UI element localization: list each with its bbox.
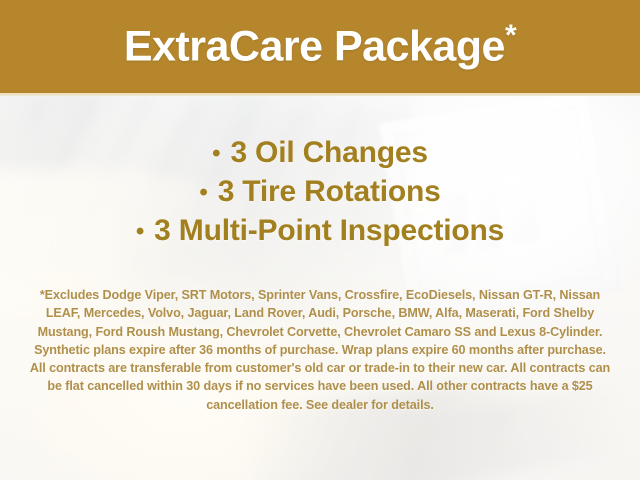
benefit-label: 3 Oil Changes (230, 136, 427, 169)
benefit-item: • 3 Multi-Point Inspections (0, 212, 640, 251)
bullet-icon: • (136, 218, 146, 245)
benefits-list: • 3 Oil Changes • 3 Tire Rotations • 3 M… (0, 134, 640, 251)
page-title: ExtraCare Package* (124, 21, 516, 72)
extracare-package-poster: ExtraCare Package* • 3 Oil Changes • 3 T… (0, 0, 640, 480)
benefit-item: • 3 Tire Rotations (0, 173, 640, 212)
page-title-text: ExtraCare Package (124, 22, 505, 70)
benefit-label: 3 Multi-Point Inspections (154, 214, 504, 247)
benefit-label: 3 Tire Rotations (218, 175, 441, 208)
header-band: ExtraCare Package* (0, 0, 640, 93)
bullet-icon: • (199, 179, 209, 206)
bullet-icon: • (212, 140, 222, 167)
disclaimer-text: *Excludes Dodge Viper, SRT Motors, Sprin… (28, 286, 612, 414)
title-asterisk: * (505, 19, 516, 52)
benefit-item: • 3 Oil Changes (0, 134, 640, 173)
header-divider (0, 93, 640, 96)
